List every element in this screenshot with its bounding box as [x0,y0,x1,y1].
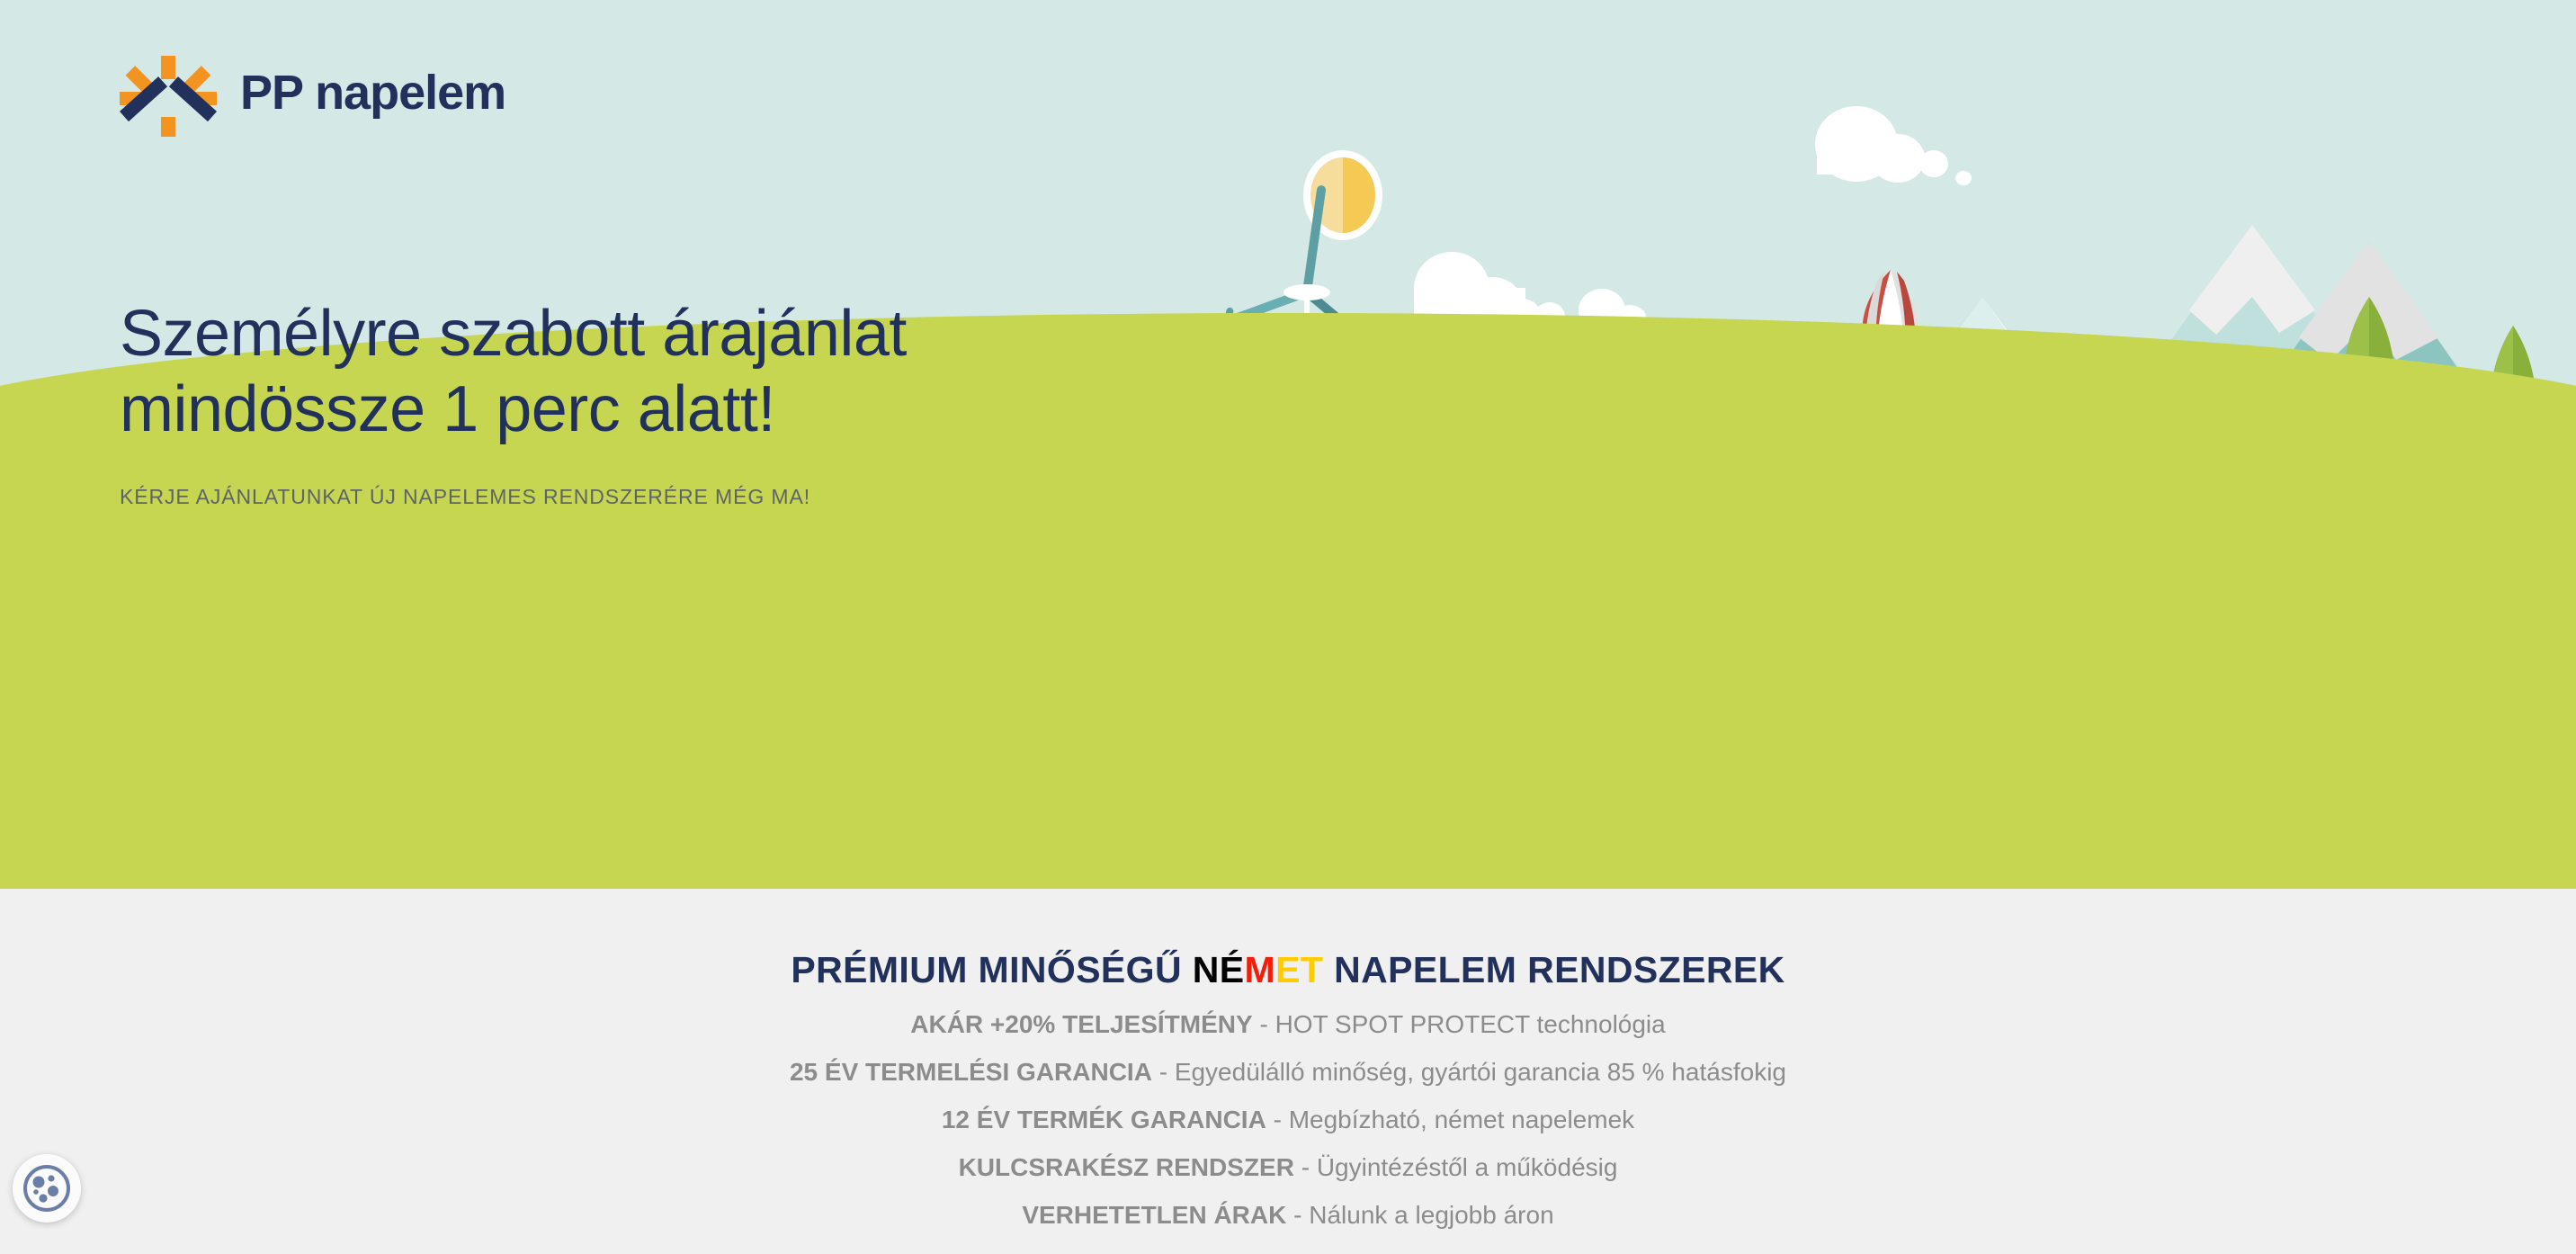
feature-value: Egyedülálló minőség, gyártói garancia 85… [1175,1058,1786,1086]
brand-logo[interactable]: PP napelem [120,56,505,130]
cookie-settings-button[interactable] [13,1154,81,1223]
feature-sep: - [1286,1201,1309,1229]
features-heading-de-black: NÉ [1193,949,1245,990]
hero-subtitle: KÉRJE AJÁNLATUNKAT ÚJ NAPELEMES RENDSZER… [120,485,1199,509]
brand-name: PP napelem [240,65,505,121]
page-root: PP napelem Személyre szabott árajánlat m… [0,0,2576,1254]
feature-key: AKÁR +20% TELJESÍTMÉNY [910,1010,1252,1038]
feature-item: 12 ÉV TERMÉK GARANCIA - Megbízható, néme… [0,1106,2576,1134]
feature-item: AKÁR +20% TELJESÍTMÉNY - HOT SPOT PROTEC… [0,1010,2576,1039]
feature-sep: - [1294,1153,1317,1181]
sun-chevron-icon [120,56,217,130]
feature-value: Megbízható, német napelemek [1289,1106,1634,1133]
features-heading-after: NAPELEM RENDSZEREK [1323,949,1784,990]
feature-value: HOT SPOT PROTECT technológia [1275,1010,1666,1038]
feature-sep: - [1266,1106,1289,1133]
features-heading-de-red: M [1245,949,1276,990]
feature-sep: - [1253,1010,1275,1038]
hero-section: PP napelem Személyre szabott árajánlat m… [0,0,2576,889]
feature-value: Ügyintézéstől a működésig [1317,1153,1618,1181]
feature-key: 25 ÉV TERMELÉSI GARANCIA [790,1058,1152,1086]
feature-sep: - [1152,1058,1175,1086]
hero-copy: Személyre szabott árajánlat mindössze 1 … [120,297,1199,509]
feature-item: VERHETETLEN ÁRAK - Nálunk a legjobb áron [0,1201,2576,1230]
hero-title-line-1: Személyre szabott árajánlat [120,298,907,370]
features-heading: PRÉMIUM MINŐSÉGŰ NÉMET NAPELEM RENDSZERE… [0,949,2576,991]
feature-value: Nálunk a legjobb áron [1309,1201,1553,1229]
features-heading-before: PRÉMIUM MINŐSÉGŰ [791,949,1192,990]
hero-title-line-2: mindössze 1 perc alatt! [120,373,775,445]
feature-key: KULCSRAKÉSZ RENDSZER [959,1153,1294,1181]
cookie-icon [21,1162,73,1214]
features-heading-de-gold: ET [1275,949,1323,990]
page-title: Személyre szabott árajánlat mindössze 1 … [120,297,1199,447]
feature-item: KULCSRAKÉSZ RENDSZER - Ügyintézéstől a m… [0,1153,2576,1182]
feature-item: 25 ÉV TERMELÉSI GARANCIA - Egyedülálló m… [0,1058,2576,1087]
features-section: PRÉMIUM MINŐSÉGŰ NÉMET NAPELEM RENDSZERE… [0,889,2576,1254]
feature-key: VERHETETLEN ÁRAK [1022,1201,1286,1229]
feature-key: 12 ÉV TERMÉK GARANCIA [942,1106,1266,1133]
